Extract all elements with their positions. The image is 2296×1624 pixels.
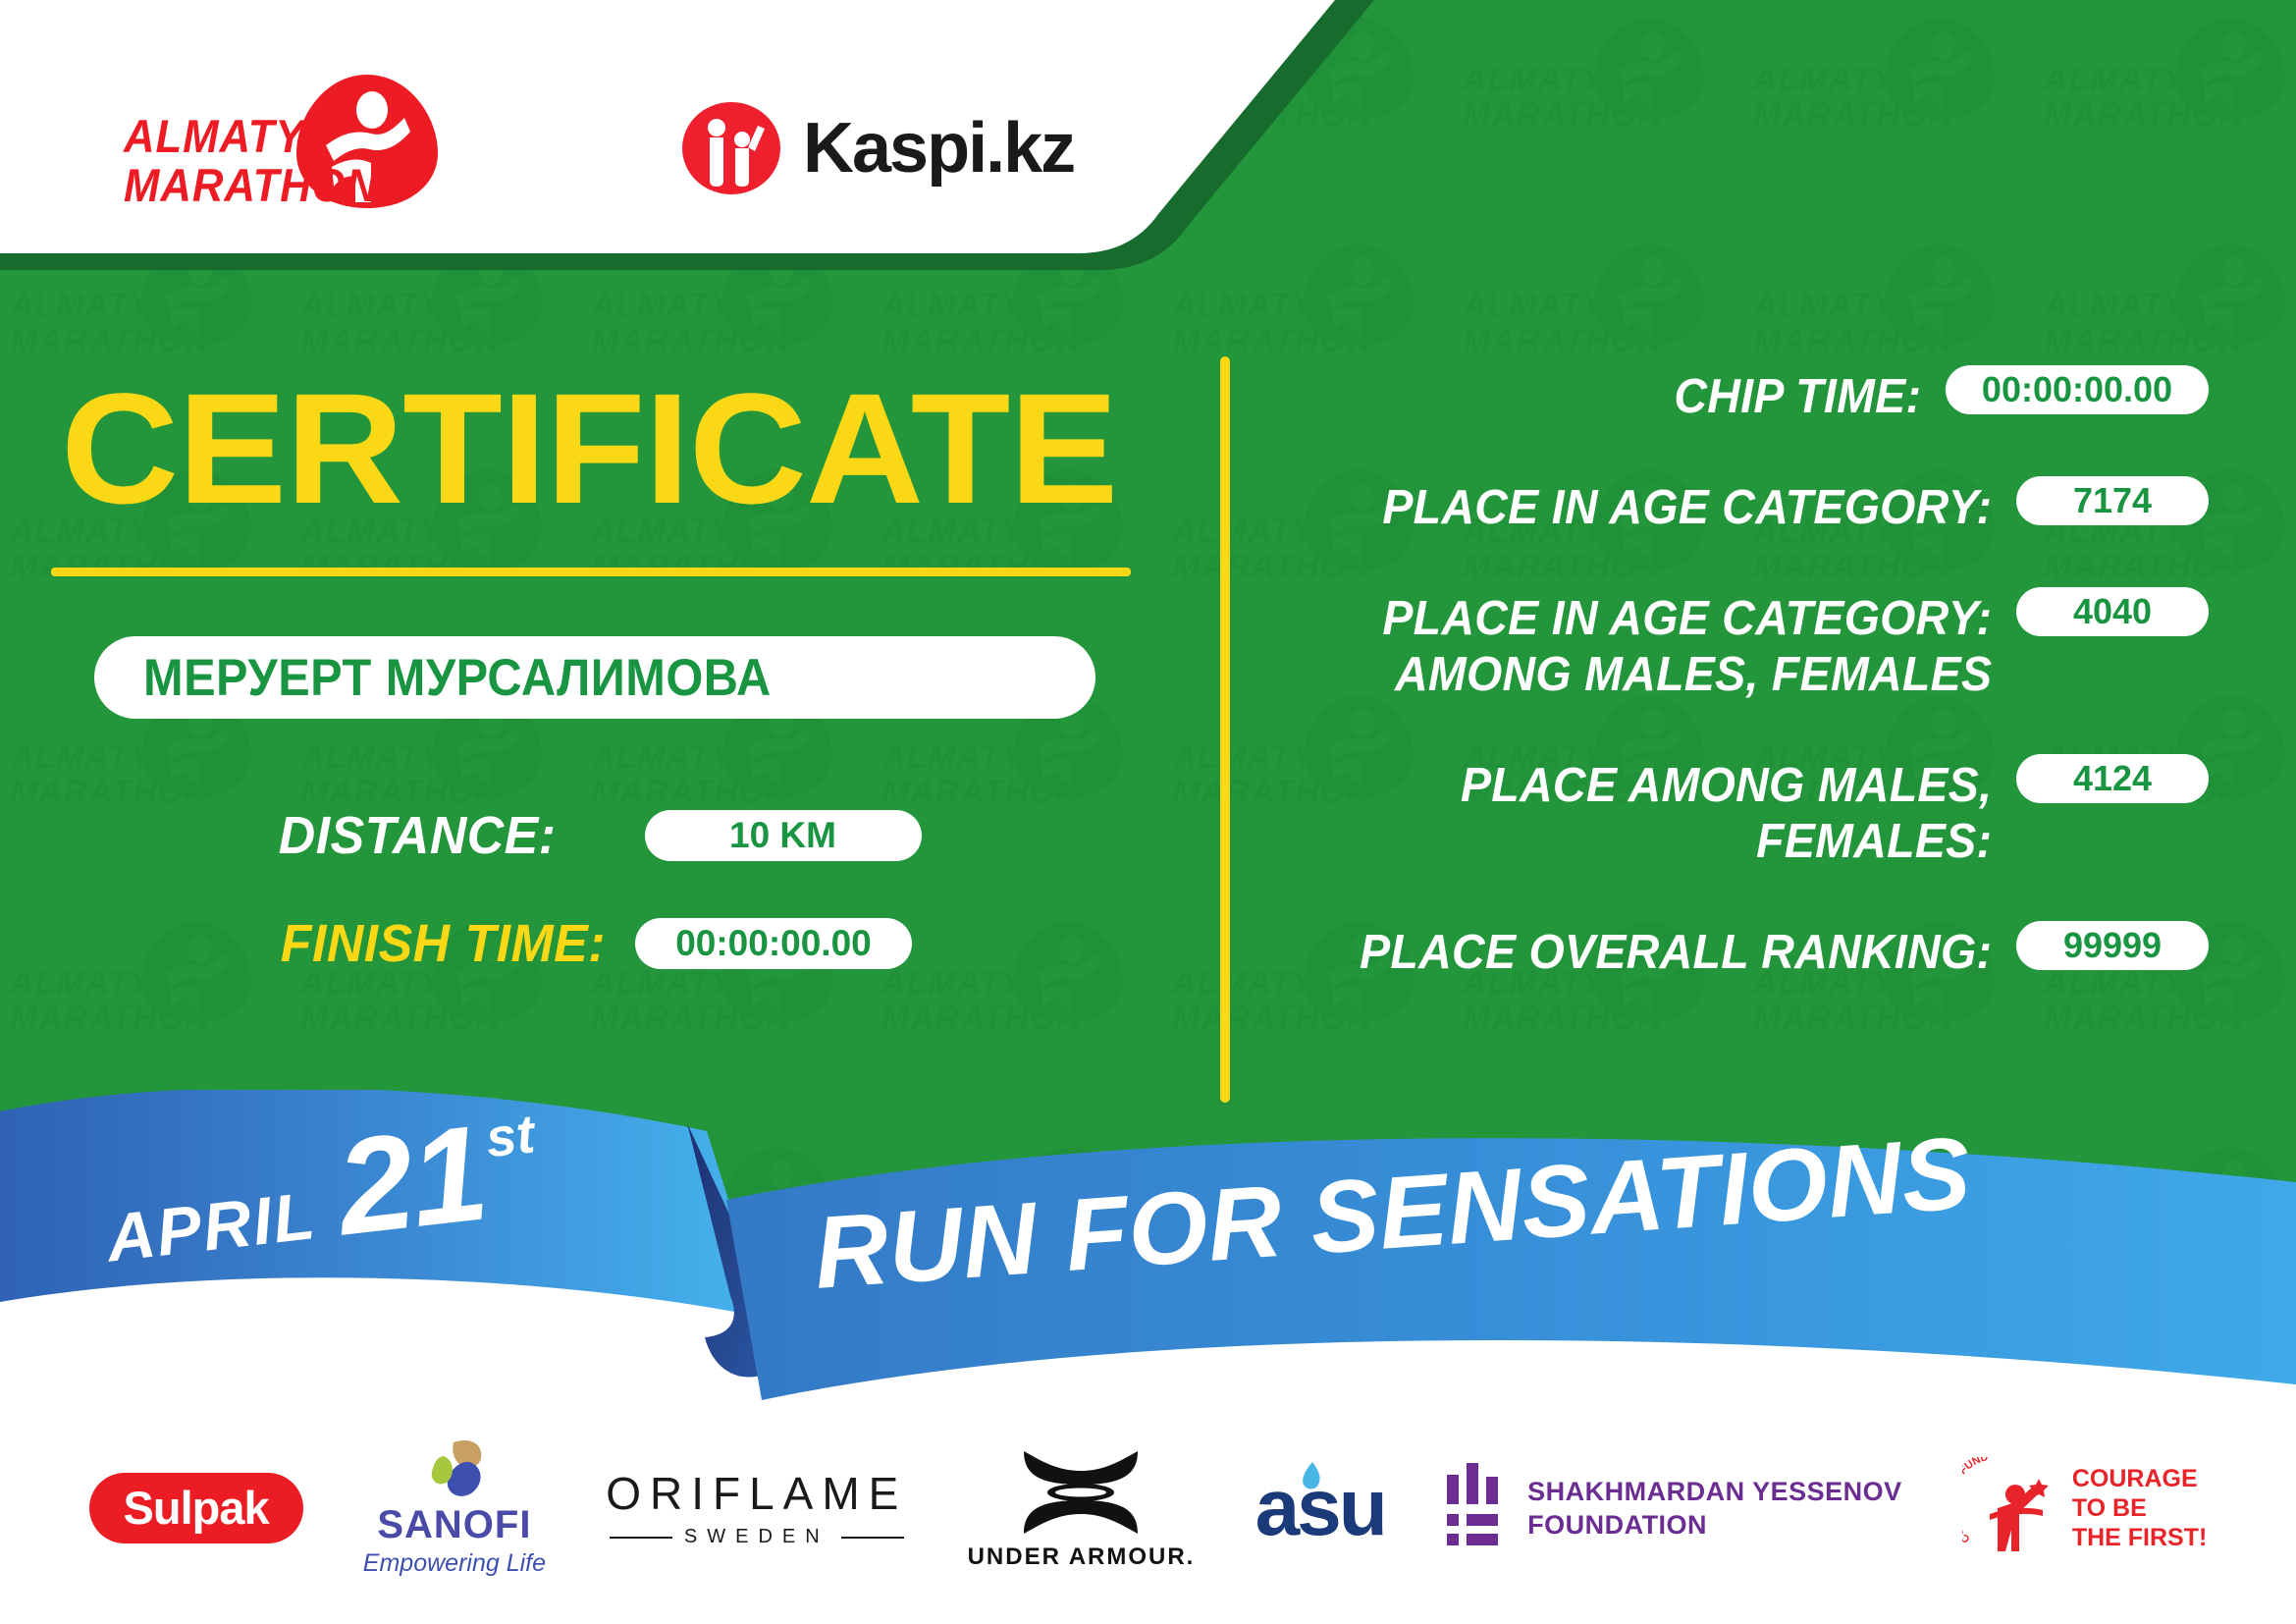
courage-line1: COURAGE xyxy=(2072,1464,2208,1493)
stat-row: CHIP TIME: 00:00:00.00 xyxy=(1276,365,2209,425)
stat-value: 7174 xyxy=(2016,476,2209,525)
sanofi-name: SANOFI xyxy=(363,1503,546,1547)
stat-label: PLACE IN AGE CATEGORY: xyxy=(1313,476,2016,536)
sponsor-asu: asu xyxy=(1255,1435,1385,1582)
almaty-line: ALMATY xyxy=(124,112,370,161)
under-armour-icon xyxy=(1014,1445,1148,1540)
sanofi-tagline: Empowering Life xyxy=(363,1549,546,1578)
sponsor-courage-fund: CORPORATE FUND COURAGE TO BE THE FIRST! xyxy=(1962,1435,2208,1582)
sponsor-sulpak: Sulpak xyxy=(89,1435,303,1582)
stat-value: 00:00:00.00 xyxy=(1946,365,2209,414)
stat-value: 4040 xyxy=(2016,587,2209,636)
kaspi-people-icon xyxy=(677,102,785,195)
almaty-marathon-wordmark: ALMATY MARATHON xyxy=(124,112,370,210)
distance-value: 10 KM xyxy=(645,810,922,861)
kaspi-logo: Kaspi.kz xyxy=(677,102,1090,195)
stat-label: CHIP TIME: xyxy=(1309,365,1946,425)
stat-row: PLACE OVERALL RANKING: 99999 xyxy=(1276,921,2209,981)
sponsor-oriflame: ORIFLAME SWEDEN xyxy=(606,1435,907,1582)
stat-value: 99999 xyxy=(2016,921,2209,970)
yessenov-bars-icon xyxy=(1445,1461,1506,1555)
almaty-marathon-logo: ALMATY MARATHON xyxy=(124,69,448,216)
oriflame-sub: SWEDEN xyxy=(606,1526,907,1548)
asu-droplet-icon xyxy=(1299,1460,1324,1493)
yessenov-name-line1: SHAKHMARDAN YESSENOV xyxy=(1527,1475,1902,1508)
event-day-suffix: st xyxy=(483,1102,538,1169)
courage-line2: TO BE xyxy=(2072,1493,2208,1523)
event-day: 21 xyxy=(332,1113,491,1247)
kaspi-wordmark: Kaspi.kz xyxy=(803,108,1074,189)
stat-row: PLACE IN AGE CATEGORY: 7174 xyxy=(1276,476,2209,536)
stat-value: 4124 xyxy=(2016,754,2209,803)
svg-text:CORPORATE FUND: CORPORATE FUND xyxy=(1962,1457,1990,1545)
sulpak-logo: Sulpak xyxy=(89,1473,303,1543)
vertical-divider xyxy=(1220,356,1230,1103)
certificate: ALMATY MARATHON Kaspi.kz CERTIFICATE МЕР… xyxy=(0,0,2296,1624)
distance-label: DISTANCE: xyxy=(279,805,557,866)
courage-runner-icon: CORPORATE FUND xyxy=(1962,1457,2060,1559)
yessenov-name-line2: FOUNDATION xyxy=(1527,1508,1902,1542)
participant-name-value: МЕРУЕРТ МУРСАЛИМОВА xyxy=(143,648,772,708)
finish-time-value: 00:00:00.00 xyxy=(635,918,912,969)
sponsor-sanofi: SANOFI Empowering Life xyxy=(363,1435,546,1582)
marathon-line: MARATHON xyxy=(124,161,370,210)
stat-label: PLACE AMONG MALES,FEMALES: xyxy=(1313,754,2016,870)
sponsors-bar: Sulpak SANOFI Empowering Life ORIFLAME S… xyxy=(0,1422,2296,1594)
sanofi-mark-icon xyxy=(410,1438,499,1499)
stat-label: PLACE IN AGE CATEGORY:AMONG MALES, FEMAL… xyxy=(1313,587,2016,703)
finish-time-row: FINISH TIME: 00:00:00.00 xyxy=(267,913,912,974)
finish-time-label: FINISH TIME: xyxy=(281,913,606,974)
stat-row: PLACE AMONG MALES,FEMALES: 4124 xyxy=(1276,754,2209,870)
stat-row: PLACE IN AGE CATEGORY:AMONG MALES, FEMAL… xyxy=(1276,587,2209,703)
sponsor-under-armour: UNDER ARMOUR. xyxy=(968,1435,1196,1582)
courage-line3: THE FIRST! xyxy=(2072,1523,2208,1552)
under-armour-name: UNDER ARMOUR. xyxy=(968,1543,1196,1571)
oriflame-name: ORIFLAME xyxy=(606,1467,907,1520)
distance-row: DISTANCE: 10 KM xyxy=(267,805,922,866)
stats-panel: CHIP TIME: 00:00:00.00 PLACE IN AGE CATE… xyxy=(1276,365,2209,1032)
event-month: APRIL xyxy=(103,1177,320,1277)
sponsor-yessenov-foundation: SHAKHMARDAN YESSENOV FOUNDATION xyxy=(1445,1435,1902,1582)
certificate-title: CERTIFICATE xyxy=(61,371,1204,526)
header-panel: ALMATY MARATHON Kaspi.kz xyxy=(0,0,1394,291)
stat-label: PLACE OVERALL RANKING: xyxy=(1313,921,2016,981)
title-underline xyxy=(51,568,1131,576)
participant-name-field: МЕРУЕРТ МУРСАЛИМОВА xyxy=(94,636,1095,719)
